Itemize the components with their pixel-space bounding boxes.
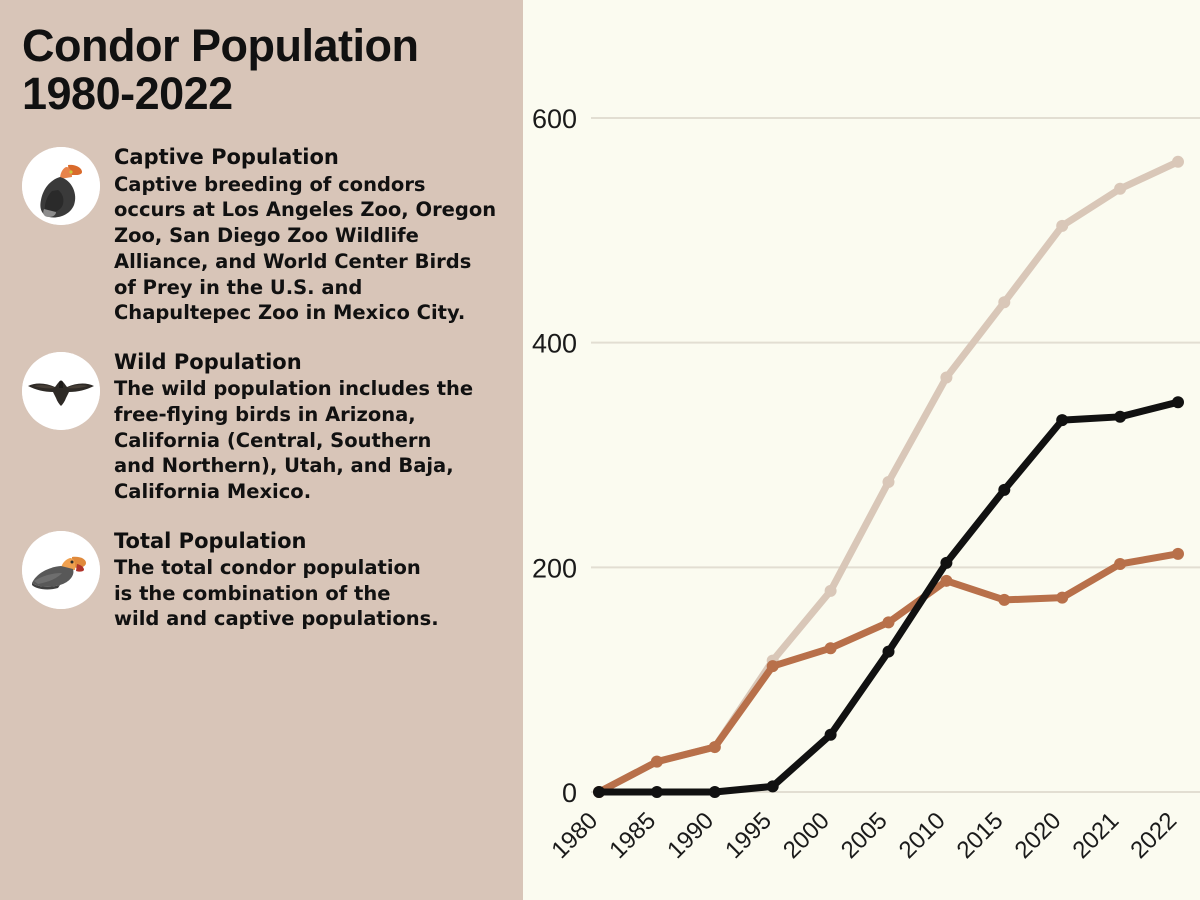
legend-title-wild: Wild Population: [114, 350, 519, 375]
data-point: [825, 729, 837, 741]
y-tick-label: 0: [562, 778, 577, 808]
data-point: [998, 296, 1010, 308]
chart-background: [523, 0, 1200, 900]
legend-text-captive: Captive Population Captive breeding of c…: [114, 143, 519, 326]
data-point: [767, 780, 779, 792]
data-point: [593, 786, 605, 798]
data-point: [651, 786, 663, 798]
data-point: [940, 557, 952, 569]
data-point: [940, 371, 952, 383]
data-point: [767, 660, 779, 672]
legend-title-total: Total Population: [114, 529, 519, 554]
data-point: [709, 786, 721, 798]
data-point: [825, 642, 837, 654]
data-point: [883, 646, 895, 658]
y-tick-label: 400: [532, 329, 577, 359]
legend-item-wild: Wild Population The wild population incl…: [22, 348, 523, 505]
condor-population-line-chart: 0200400600 19801985199019952000200520102…: [523, 0, 1200, 900]
data-point: [940, 575, 952, 587]
data-point: [1172, 548, 1184, 560]
legend-text-total: Total Population The total condor popula…: [114, 527, 519, 632]
legend-item-total: Total Population The total condor popula…: [22, 527, 523, 632]
page-title: Condor Population 1980-2022: [22, 22, 523, 117]
data-point: [998, 594, 1010, 606]
legend-body-wild: The wild population includes the free-fl…: [114, 376, 519, 505]
data-point: [651, 756, 663, 768]
y-tick-label: 200: [532, 553, 577, 583]
data-point: [883, 616, 895, 628]
data-point: [1172, 156, 1184, 168]
data-point: [825, 585, 837, 597]
condor-flying-icon: [22, 352, 100, 430]
data-point: [1114, 183, 1126, 195]
data-point: [883, 476, 895, 488]
data-point: [1056, 220, 1068, 232]
condor-perched-icon: [22, 147, 100, 225]
legend-body-captive: Captive breeding of condors occurs at Lo…: [114, 172, 519, 326]
data-point: [1056, 592, 1068, 604]
chart-panel: 0200400600 19801985199019952000200520102…: [523, 0, 1200, 900]
info-sidebar: Condor Population 1980-2022 Captive Popu…: [0, 0, 523, 900]
infographic-page: Condor Population 1980-2022 Captive Popu…: [0, 0, 1200, 900]
data-point: [1172, 396, 1184, 408]
y-tick-label: 600: [532, 104, 577, 134]
legend-body-total: The total condor population is the combi…: [114, 555, 519, 632]
data-point: [1114, 558, 1126, 570]
data-point: [998, 484, 1010, 496]
condor-head-icon: [22, 531, 100, 609]
data-point: [1056, 414, 1068, 426]
legend-text-wild: Wild Population The wild population incl…: [114, 348, 519, 505]
legend-item-captive: Captive Population Captive breeding of c…: [22, 143, 523, 326]
data-point: [1114, 411, 1126, 423]
data-point: [709, 741, 721, 753]
legend-title-captive: Captive Population: [114, 145, 519, 170]
